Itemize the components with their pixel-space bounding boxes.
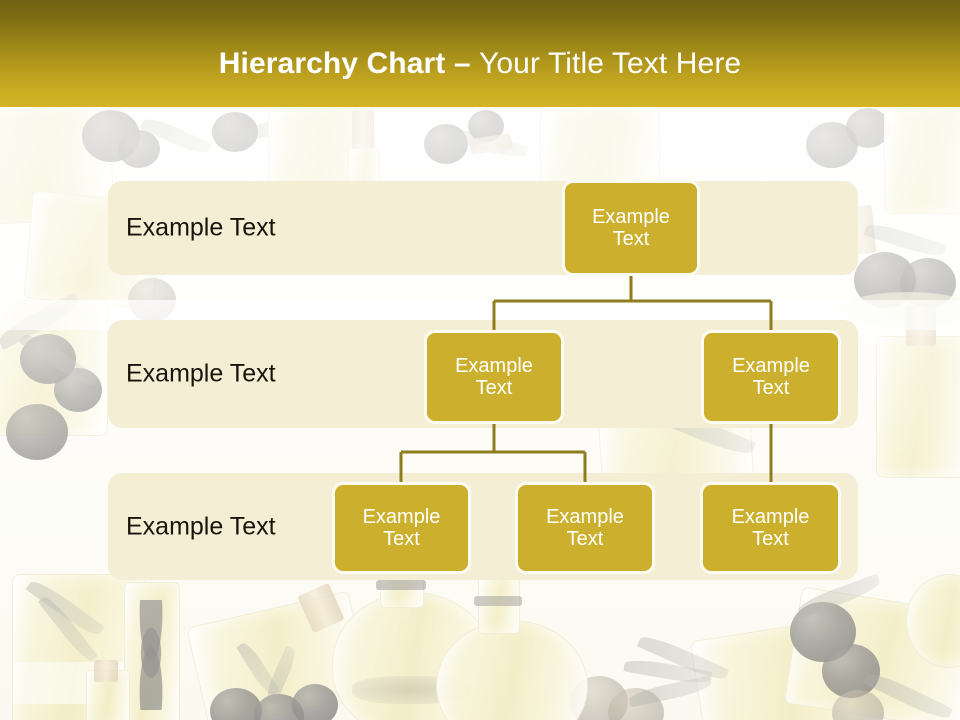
node-level3-3-text: ExampleText (726, 506, 816, 551)
hierarchy-node-level1-1[interactable]: ExampleText (562, 180, 700, 276)
hierarchy-node-level3-2[interactable]: ExampleText (515, 482, 655, 574)
node-level2-1-text: ExampleText (449, 355, 539, 400)
row-2-label: Example Text (126, 360, 276, 389)
hierarchy-node-level2-2[interactable]: ExampleText (701, 330, 841, 424)
node-level3-1-text: ExampleText (357, 506, 447, 551)
hierarchy-node-level2-1[interactable]: ExampleText (424, 330, 564, 424)
node-level2-2-text: ExampleText (726, 355, 816, 400)
row-3-label: Example Text (126, 512, 276, 541)
page-title-strong: Hierarchy Chart – (219, 47, 479, 80)
slide-canvas: Hierarchy Chart – Your Title Text Here E… (0, 0, 960, 720)
hierarchy-row-1[interactable]: Example Text (108, 181, 858, 275)
hierarchy-node-level3-3[interactable]: ExampleText (700, 482, 841, 574)
page-title-light: Your Title Text Here (479, 47, 741, 80)
title-banner: Hierarchy Chart – Your Title Text Here (0, 0, 960, 107)
hierarchy-node-level3-1[interactable]: ExampleText (332, 482, 471, 574)
page-title: Hierarchy Chart – Your Title Text Here (219, 49, 741, 79)
node-level1-1-text: ExampleText (586, 206, 676, 251)
node-level3-2-text: ExampleText (540, 506, 630, 551)
row-1-label: Example Text (126, 214, 276, 243)
